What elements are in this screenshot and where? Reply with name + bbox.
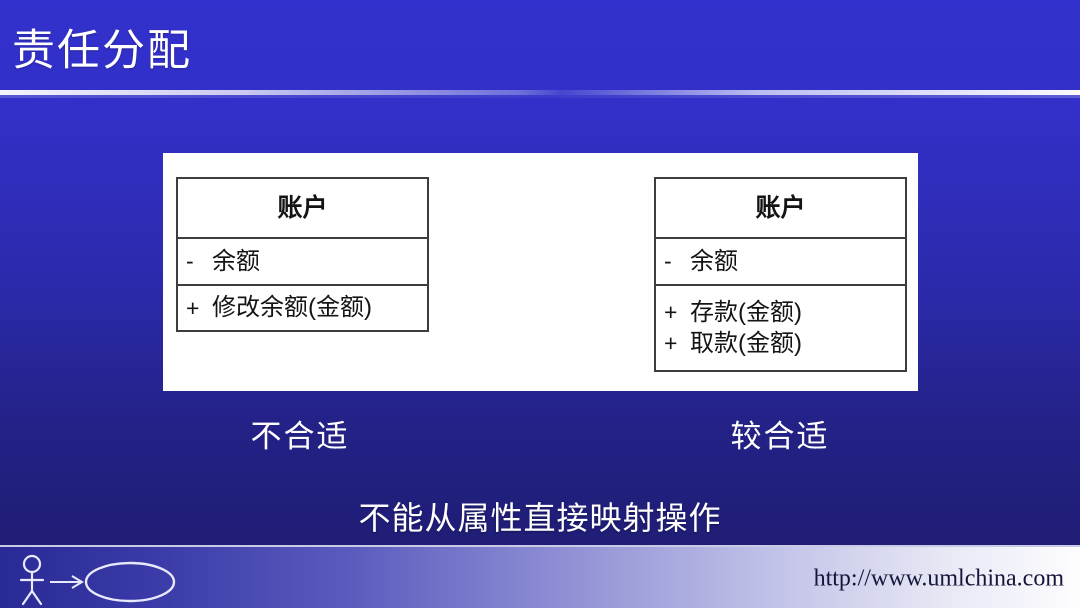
uml-actor-icon bbox=[21, 556, 43, 604]
class-attribute-row: - 余额 bbox=[656, 250, 738, 274]
class-operations-compartment: + 存款(金额) + 取款(金额) bbox=[656, 286, 905, 370]
attribute-label: 余额 bbox=[212, 250, 260, 274]
arrow-right-icon bbox=[50, 576, 82, 588]
uml-usecase-ellipse-icon bbox=[86, 563, 174, 601]
slide-statement: 不能从属性直接映射操作 bbox=[358, 502, 721, 534]
uml-usecase-logo bbox=[14, 551, 184, 607]
visibility-marker: + bbox=[656, 332, 690, 355]
visibility-marker: - bbox=[656, 250, 690, 273]
uml-class-box-right[interactable]: 账户 - 余额 + 存款(金额) + 取款(金额) bbox=[654, 177, 907, 372]
class-name-compartment: 账户 bbox=[178, 179, 427, 239]
operation-label: 取款(金额) bbox=[690, 332, 905, 356]
slide-title: 责任分配 bbox=[12, 30, 192, 73]
uml-class-box-left[interactable]: 账户 - 余额 + 修改余额(金额) bbox=[176, 177, 429, 332]
class-operation-row: + 取款(金额) bbox=[656, 332, 905, 356]
diagram-panel: 账户 - 余额 + 修改余额(金额) 账户 - bbox=[163, 153, 918, 391]
title-divider-rule bbox=[0, 90, 1080, 95]
attribute-label: 余额 bbox=[690, 250, 738, 274]
class-name-label: 账户 bbox=[755, 196, 805, 221]
class-operations-compartment: + 修改余额(金额) bbox=[178, 286, 427, 330]
slide-footer: http://www.umlchina.com bbox=[0, 545, 1080, 608]
class-name-label: 账户 bbox=[277, 196, 327, 221]
caption-left: 不合适 bbox=[251, 421, 350, 452]
caption-right: 较合适 bbox=[731, 421, 830, 452]
class-name-compartment: 账户 bbox=[656, 179, 905, 239]
visibility-marker: + bbox=[656, 301, 690, 324]
operation-label: 修改余额(金额) bbox=[212, 296, 372, 320]
presentation-slide: 责任分配 账户 - 余额 + 修改余额(金额) 账 bbox=[0, 0, 1080, 608]
class-operation-row: + 存款(金额) bbox=[656, 301, 905, 325]
footer-url-label[interactable]: http://www.umlchina.com bbox=[814, 565, 1064, 592]
class-attribute-row: - 余额 bbox=[178, 250, 260, 274]
class-attributes-compartment: - 余额 bbox=[656, 239, 905, 286]
visibility-marker: - bbox=[178, 250, 212, 273]
operation-label: 存款(金额) bbox=[690, 301, 905, 325]
class-attributes-compartment: - 余额 bbox=[178, 239, 427, 286]
visibility-marker: + bbox=[178, 297, 212, 320]
class-operation-row: + 修改余额(金额) bbox=[178, 296, 372, 320]
